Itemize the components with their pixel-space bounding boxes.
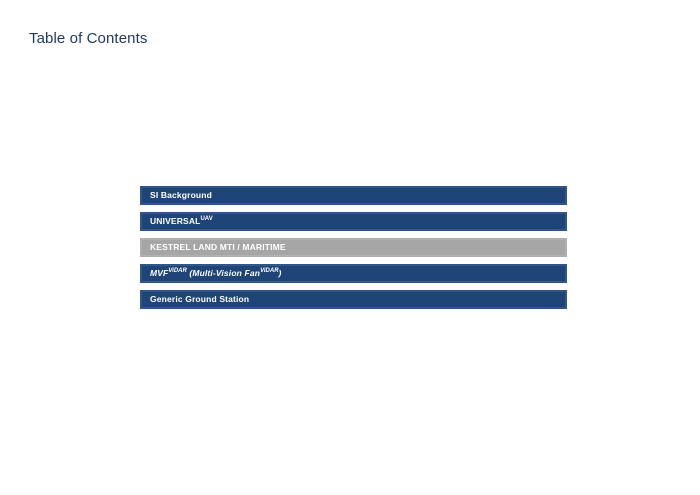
slide-canvas: Table of Contents SI BackgroundUNIVERSAL… — [0, 0, 700, 495]
toc-item-label: MVFViDAR (Multi-Vision FanViDAR) — [150, 269, 282, 278]
page-title: Table of Contents — [29, 30, 147, 47]
table-of-contents-list: SI BackgroundUNIVERSALUAVKESTREL LAND MT… — [140, 186, 567, 309]
toc-item-universal-uav[interactable]: UNIVERSALUAV — [140, 212, 567, 231]
toc-item-label: Generic Ground Station — [150, 295, 249, 304]
toc-item-generic-ground-station[interactable]: Generic Ground Station — [140, 290, 567, 309]
toc-item-kestrel-land-mti-maritime[interactable]: KESTREL LAND MTI / MARITIME — [140, 238, 567, 257]
toc-item-label: KESTREL LAND MTI / MARITIME — [150, 243, 286, 252]
toc-item-label: SI Background — [150, 191, 212, 200]
toc-item-si-background[interactable]: SI Background — [140, 186, 567, 205]
toc-item-label: UNIVERSALUAV — [150, 217, 213, 226]
toc-item-mvf-vidar[interactable]: MVFViDAR (Multi-Vision FanViDAR) — [140, 264, 567, 283]
